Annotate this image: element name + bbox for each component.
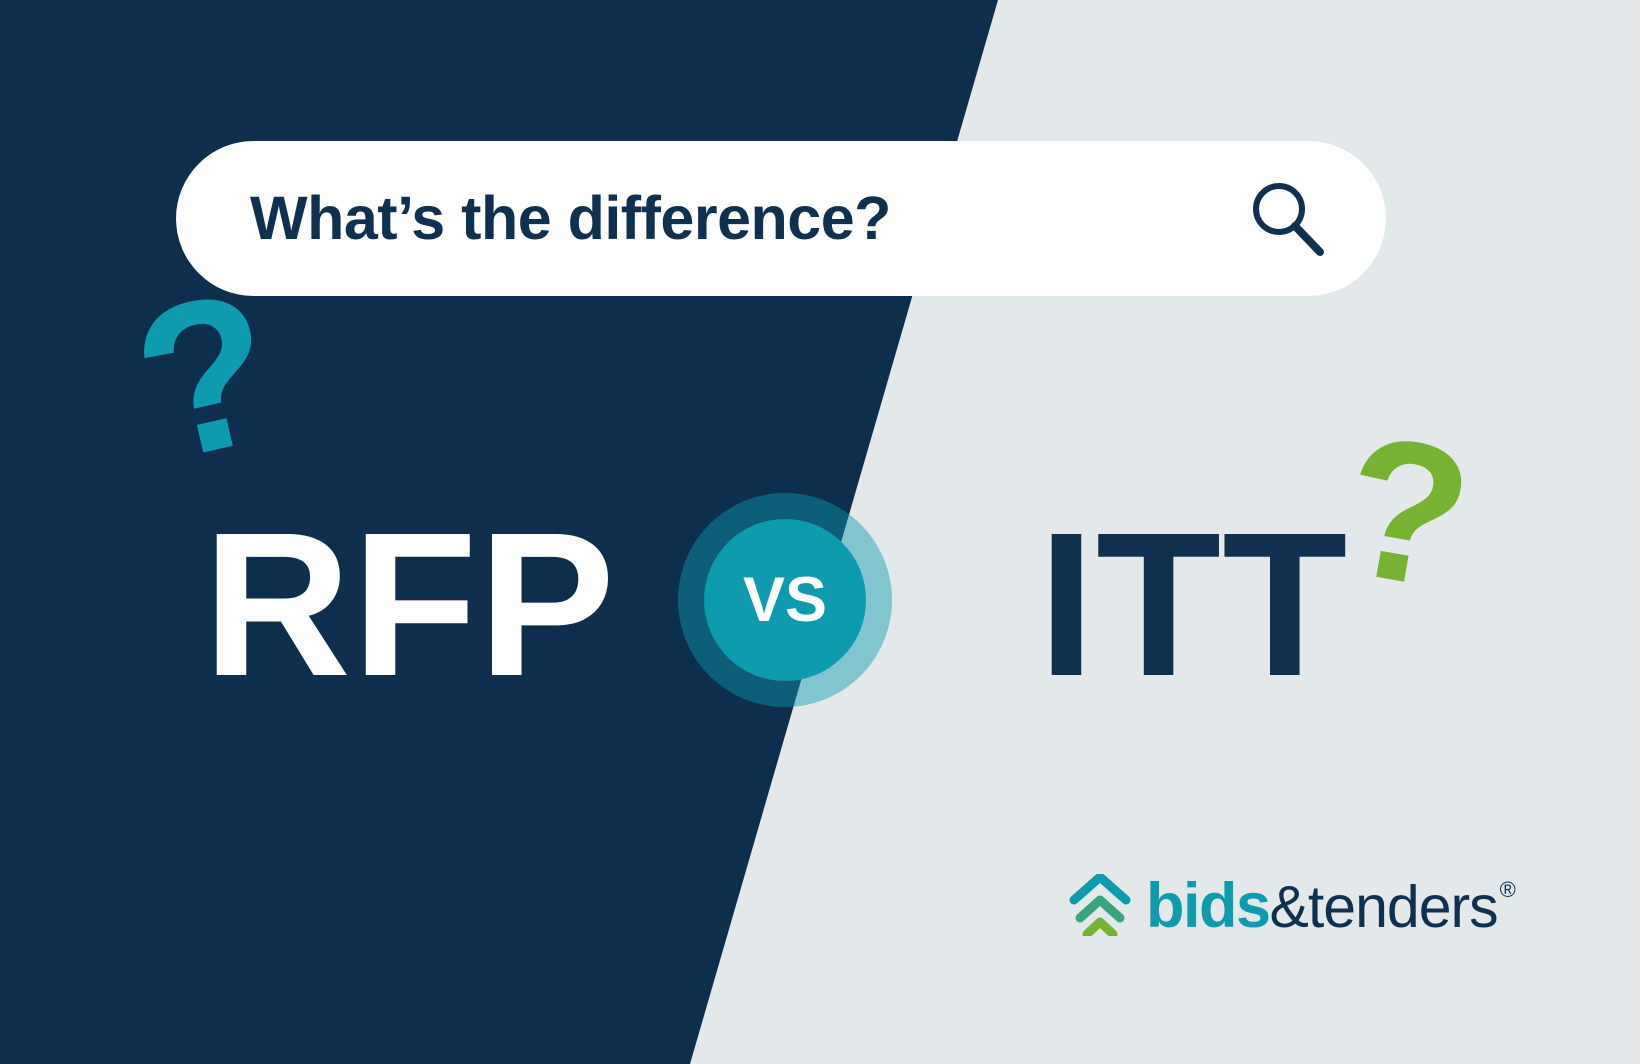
brand-ampersand: & — [1270, 878, 1308, 937]
trademark-symbol: ® — [1500, 879, 1516, 901]
term-left-rfp: RFP — [203, 502, 616, 707]
search-input[interactable]: What’s the difference? — [250, 188, 891, 249]
brand-wordmark: bids & tenders ® — [1146, 875, 1514, 938]
search-icon[interactable] — [1248, 180, 1326, 258]
versus-label: VS — [743, 569, 827, 632]
brand-logo[interactable]: bids & tenders ® — [1068, 874, 1514, 938]
chevrons-icon — [1068, 874, 1132, 936]
versus-inner-circle: VS — [704, 519, 866, 681]
poster-canvas: ? ? What’s the difference? RFP VS ITT bi… — [0, 0, 1640, 1064]
brand-secondary-text: tenders — [1308, 878, 1498, 937]
search-bar[interactable]: What’s the difference? — [176, 141, 1386, 296]
term-right-itt: ITT — [1038, 502, 1348, 707]
brand-primary-text: bids — [1146, 875, 1270, 938]
versus-badge: VS — [678, 493, 892, 707]
